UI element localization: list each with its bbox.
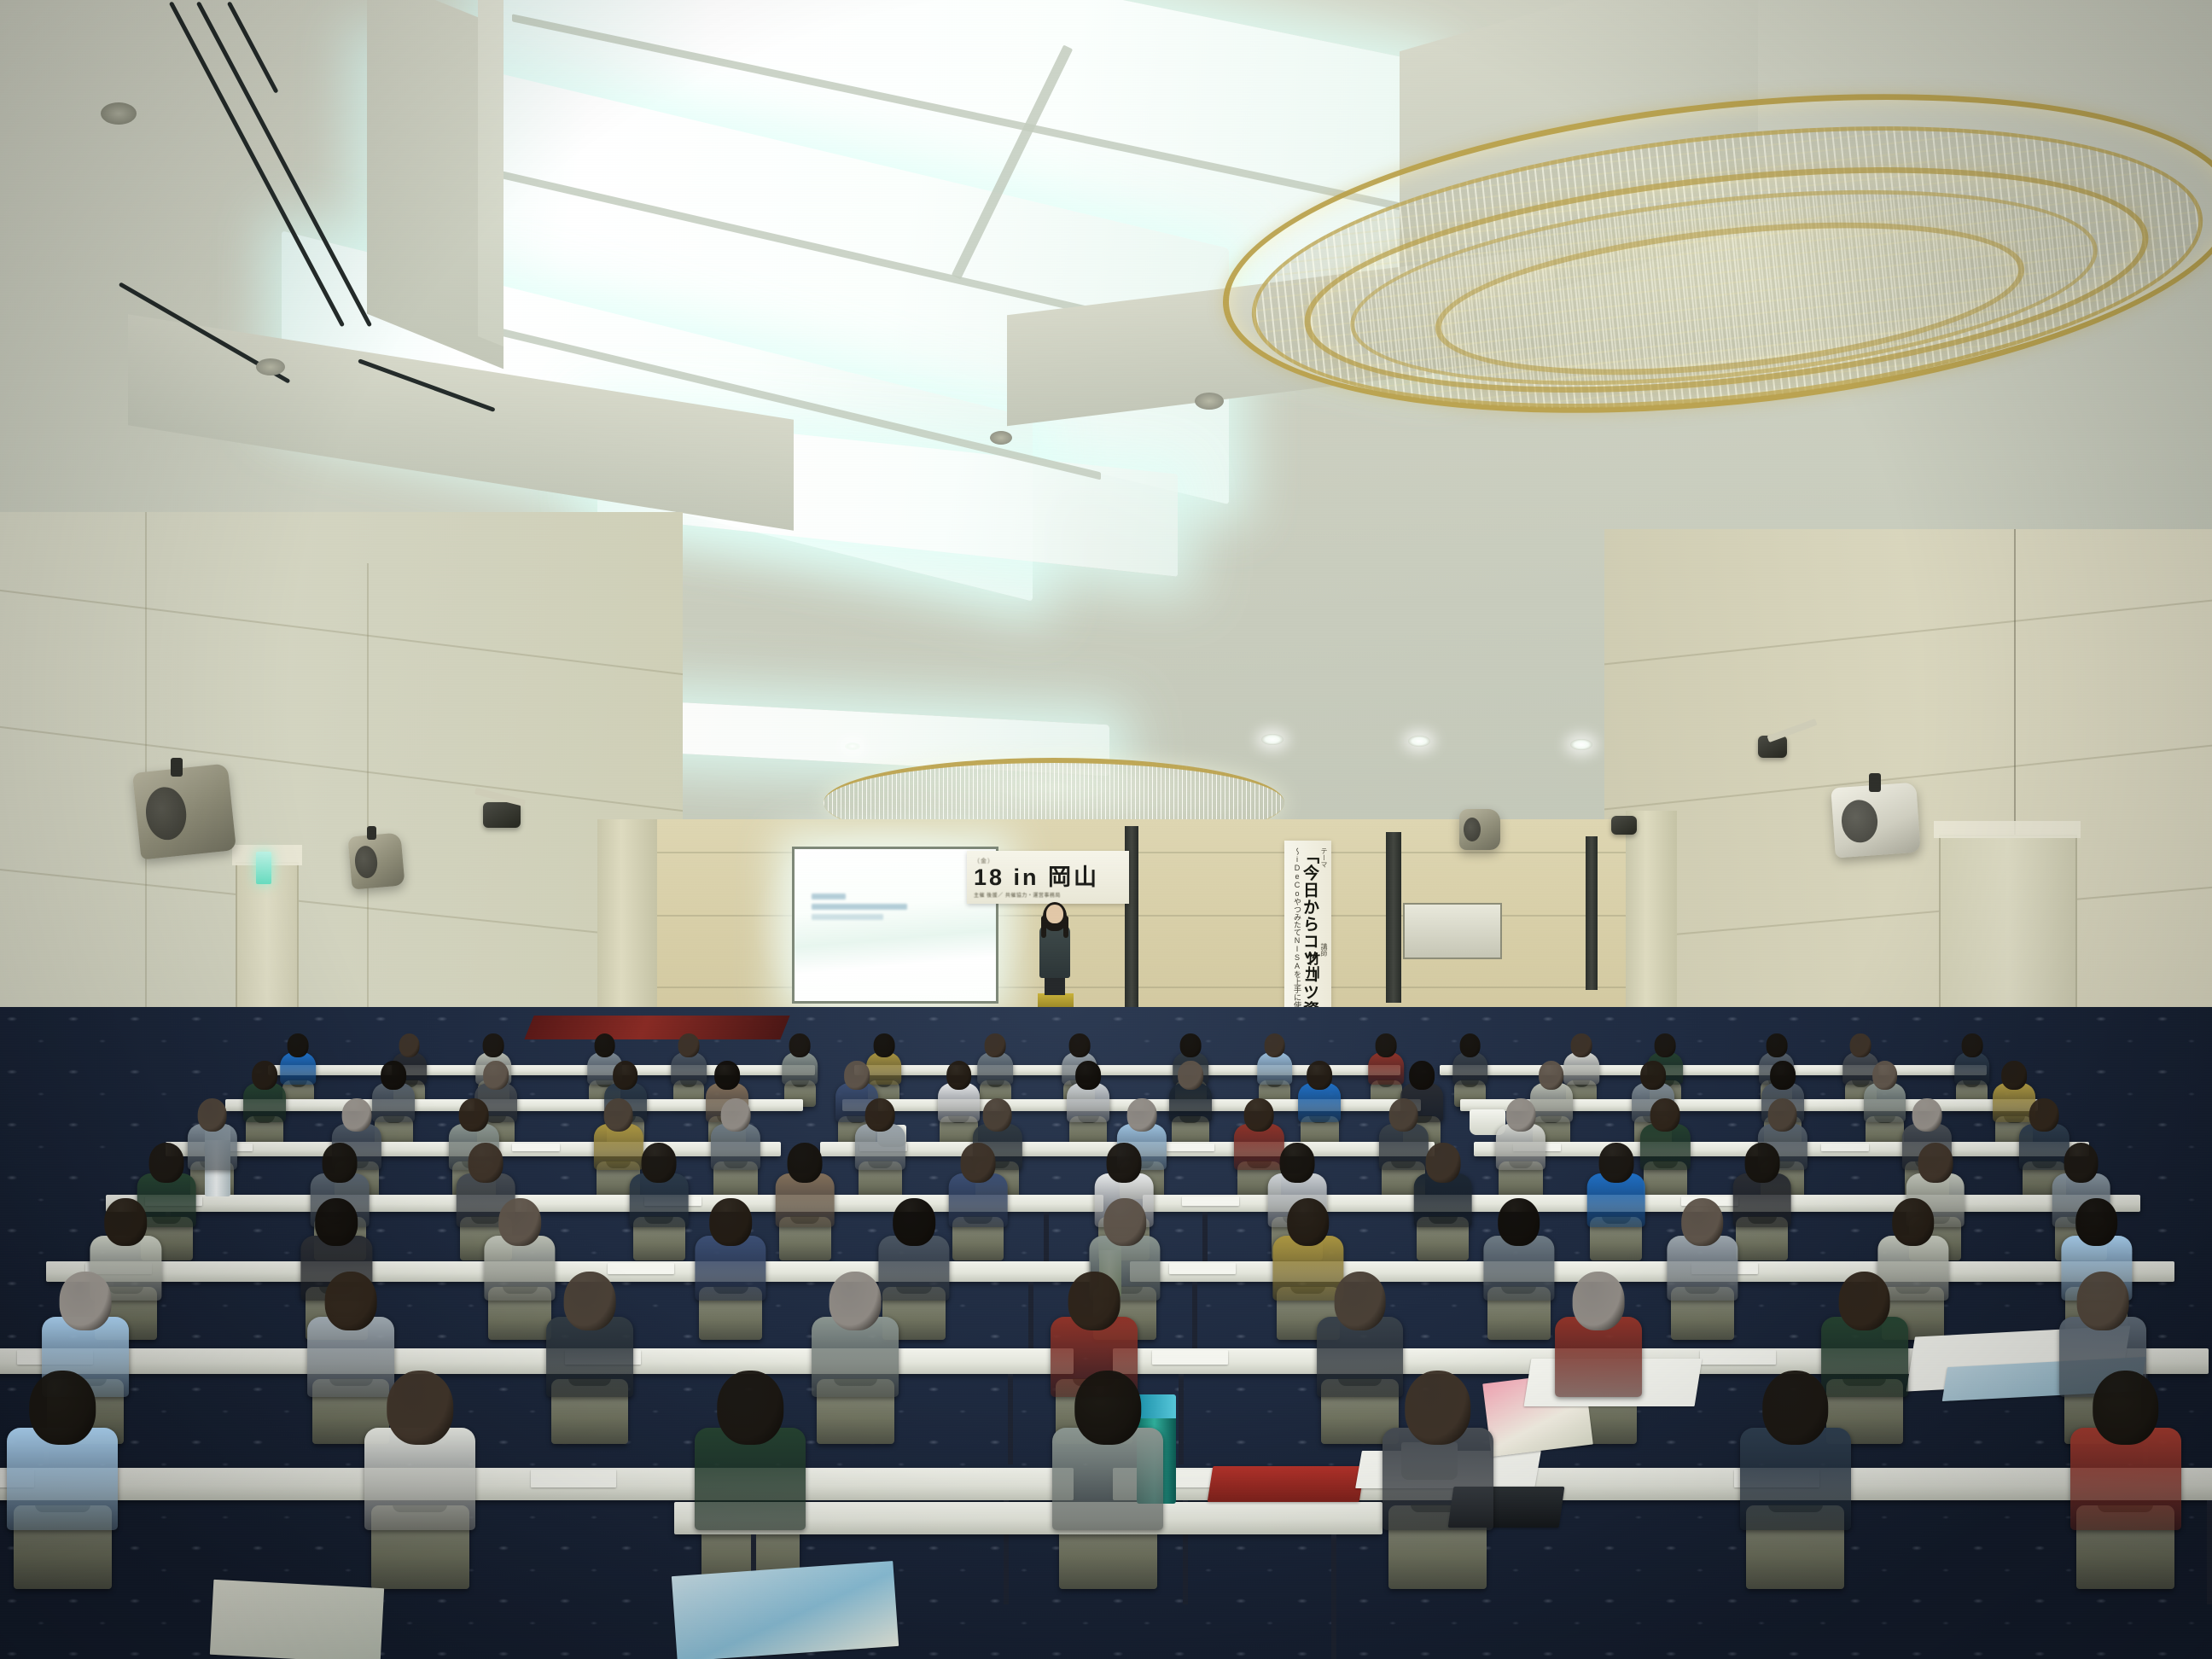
- audience-member: [945, 1143, 1011, 1227]
- aisle-red-runner: [524, 1016, 789, 1039]
- stage-banner-horizontal: （金） 18 in 岡山 主催 後援／ 共催協力・運営事務局: [967, 851, 1129, 904]
- table-leg: [1331, 1534, 1336, 1659]
- attendee-head: [2064, 1143, 2098, 1182]
- attendee-head: [603, 1098, 633, 1132]
- table-leg: [1008, 1374, 1013, 1464]
- audience-member: [771, 1143, 838, 1227]
- ceiling-beam-edge: [478, 0, 504, 346]
- attendee-head: [197, 1098, 227, 1132]
- speaker-cone-icon: [1464, 818, 1481, 842]
- attendee-grey-hoodie: [806, 1272, 905, 1397]
- speaker-cone-icon: [143, 785, 189, 841]
- attendee-head: [961, 1143, 996, 1182]
- attendee-head: [1681, 1198, 1724, 1246]
- wall-seam: [1604, 887, 2212, 941]
- banner-lecturer-name: 竹川: [1301, 952, 1321, 979]
- attendee-head: [1506, 1098, 1536, 1132]
- attendee-head: [1127, 1098, 1157, 1132]
- attendee-head: [325, 1272, 377, 1330]
- attendee-head: [717, 1371, 783, 1446]
- attendee-head: [642, 1143, 677, 1182]
- attendee-head: [498, 1198, 541, 1246]
- ceiling-vent: [990, 431, 1012, 445]
- table-row: [0, 1348, 1074, 1374]
- attendee-head: [1498, 1198, 1540, 1246]
- attendee-head: [1264, 1033, 1285, 1057]
- audience-member: [1493, 1098, 1549, 1170]
- attendee-head: [1872, 1061, 1898, 1090]
- attendee-head: [1334, 1272, 1386, 1330]
- handout-papers: [512, 1144, 560, 1151]
- attendee-head: [469, 1143, 504, 1182]
- attendee-head: [1287, 1198, 1330, 1246]
- attendee-head: [613, 1061, 638, 1090]
- attendee-head: [1573, 1272, 1625, 1330]
- attendee-head: [1762, 1371, 1829, 1446]
- attendee-head: [2001, 1061, 2027, 1090]
- attendee-head: [865, 1098, 895, 1132]
- attendee-head: [1425, 1143, 1460, 1182]
- attendee-head: [714, 1061, 740, 1090]
- attendee-head: [1571, 1033, 1592, 1057]
- stage-column-far-right: [1586, 836, 1598, 990]
- seminar-hall-photo: （金） 18 in 岡山 主催 後援／ 共催協力・運営事務局 テーマ 「今日から…: [0, 0, 2212, 1659]
- audience-member: [1295, 1061, 1344, 1122]
- notebook-red: [1208, 1466, 1365, 1502]
- speaker-mount: [1869, 773, 1881, 792]
- audience-member: [1375, 1371, 1501, 1531]
- attendee-head: [1075, 1061, 1101, 1090]
- table-leg: [1179, 1374, 1184, 1464]
- attendee-head: [788, 1143, 823, 1182]
- attendee-head: [252, 1061, 277, 1090]
- presenter-head: [1046, 905, 1063, 923]
- attendee-head: [2093, 1371, 2159, 1446]
- stage-column-right: [1386, 832, 1401, 1003]
- ceiling-vent: [1195, 393, 1224, 410]
- attendee-head: [1388, 1098, 1418, 1132]
- handout-papers: [1821, 1144, 1869, 1151]
- attendee-head: [381, 1061, 407, 1090]
- attendee-head: [873, 1033, 894, 1057]
- attendee-head: [1307, 1061, 1333, 1090]
- wall-seam: [1604, 600, 2212, 666]
- attendee-head: [1838, 1272, 1890, 1330]
- wall-speaker-center-right: [1459, 809, 1500, 850]
- attendee-head: [1961, 1033, 1982, 1057]
- attendee-head: [342, 1098, 372, 1132]
- audience-member: [1450, 1033, 1490, 1085]
- handout-papers: [1700, 1350, 1776, 1365]
- attendee-head: [1376, 1033, 1397, 1057]
- attendee-head: [387, 1371, 454, 1446]
- attendee-head: [985, 1033, 1006, 1057]
- attendee-head: [1770, 1061, 1796, 1090]
- exit-sign-icon: [256, 852, 271, 884]
- attendee-head: [893, 1198, 935, 1246]
- attendee-head: [316, 1198, 358, 1246]
- presenter: [1034, 905, 1075, 1000]
- table-leg: [2207, 1500, 2212, 1604]
- audience-member: [780, 1033, 820, 1085]
- attendee-head: [844, 1061, 870, 1090]
- speaker-cone-icon: [1840, 799, 1878, 843]
- stage-banner-vertical: テーマ 「今日からコツコツ資産形成をはじめよう」 〜iDeCoやつみたてNISA…: [1284, 841, 1331, 1022]
- audience-member: [626, 1143, 692, 1227]
- downlight: [1408, 736, 1430, 747]
- attendee-head: [982, 1098, 1012, 1132]
- ceiling-vent: [256, 358, 285, 375]
- attendee-head: [789, 1033, 811, 1057]
- attendee-head: [1640, 1061, 1666, 1090]
- audience-member: [540, 1272, 639, 1397]
- audience-member: [852, 1098, 908, 1170]
- attendee-head: [1107, 1143, 1142, 1182]
- attendee-head: [1103, 1198, 1146, 1246]
- spotlight-left: [483, 802, 521, 828]
- downlight: [845, 742, 860, 750]
- audience-member: [1410, 1143, 1476, 1227]
- wall-seam: [0, 869, 683, 942]
- attendee-head: [323, 1143, 358, 1182]
- audience-member: [1662, 1198, 1743, 1301]
- wall-speaker-right: [1831, 783, 1920, 859]
- door-header-right: [1934, 821, 2081, 838]
- attendee-head: [1180, 1033, 1202, 1057]
- handout-papers: [1167, 1144, 1214, 1151]
- audience-member: [1583, 1143, 1650, 1227]
- attendee-head: [1655, 1033, 1676, 1057]
- ceiling-conduit: [227, 1, 279, 93]
- attendee-red-top: [2063, 1371, 2189, 1531]
- attendee-head: [288, 1033, 309, 1057]
- attendee-head: [564, 1272, 616, 1330]
- attendee-head: [678, 1033, 700, 1057]
- audience-member: [687, 1371, 813, 1531]
- attendee-head: [721, 1098, 751, 1132]
- attendee-head: [1178, 1061, 1203, 1090]
- audience-member: [1064, 1061, 1113, 1122]
- ceiling-vent: [101, 102, 137, 125]
- banner-subtitle: 主催 後援／ 共催協力・運営事務局: [974, 891, 1122, 899]
- banner-theme-subtitle: 〜iDeCoやつみたてNISAを上手に使う〜: [1292, 847, 1303, 1022]
- attendee-head: [483, 1061, 509, 1090]
- attendee-head: [1068, 1033, 1090, 1057]
- audience-member: [1952, 1033, 1992, 1085]
- handout-papers: [1152, 1350, 1228, 1365]
- downlight: [1570, 739, 1592, 750]
- audience-member: [1732, 1371, 1859, 1531]
- attendee-head: [1766, 1033, 1787, 1057]
- wall-speaker-left-front: [132, 763, 236, 859]
- table-leg: [1028, 1282, 1033, 1359]
- speaker-mount: [171, 758, 183, 777]
- speaker-mount: [367, 826, 376, 840]
- attendee-ponytail-foreground: [0, 1371, 125, 1531]
- audience-member: [1254, 1033, 1295, 1085]
- attendee-head: [1244, 1098, 1274, 1132]
- attendee-head: [1598, 1143, 1633, 1182]
- wall-seam: [0, 726, 683, 812]
- attendee-head: [1279, 1143, 1314, 1182]
- attendee-head: [483, 1033, 504, 1057]
- attendee-head: [1918, 1143, 1953, 1182]
- handout-papers: [1169, 1263, 1236, 1274]
- attendee-head: [829, 1272, 882, 1330]
- attendee-head: [30, 1371, 96, 1446]
- attendee-head: [594, 1033, 615, 1057]
- wall-speaker-left-rear: [347, 832, 405, 889]
- attendee-head: [2075, 1198, 2118, 1246]
- attendee-head: [105, 1198, 148, 1246]
- handout-papers: [1182, 1196, 1239, 1206]
- attendee-head: [459, 1098, 489, 1132]
- attendee-head: [1459, 1033, 1481, 1057]
- table-leg: [1192, 1282, 1197, 1359]
- attendee-head: [1650, 1098, 1680, 1132]
- attendee-head: [1892, 1198, 1935, 1246]
- attendee-head: [946, 1061, 972, 1090]
- attendee-head: [1539, 1061, 1564, 1090]
- attendee-head: [1912, 1098, 1942, 1132]
- banner-superscript: （金）: [974, 857, 1122, 865]
- audience-member: [1166, 1061, 1214, 1122]
- handout-papers: [531, 1470, 616, 1487]
- presenter-legs: [1045, 976, 1065, 995]
- speaker-cone-icon: [354, 845, 379, 878]
- attendee-head: [1850, 1033, 1871, 1057]
- banner-main-text: 18 in 岡山: [974, 865, 1122, 889]
- brochure-blue: [672, 1561, 899, 1659]
- attendee-head: [2077, 1272, 2129, 1330]
- attendee-head: [399, 1033, 420, 1057]
- attendee-red-top: [1549, 1272, 1648, 1397]
- attendee-head: [1744, 1143, 1779, 1182]
- audience-member: [1479, 1198, 1559, 1301]
- handout-papers: [210, 1580, 384, 1659]
- attendee-head: [1068, 1272, 1121, 1330]
- audience-member: [240, 1061, 288, 1122]
- back-wall-whiteboard: [1403, 903, 1502, 959]
- audience-member: [358, 1371, 484, 1531]
- attendee-head: [2029, 1098, 2059, 1132]
- attendee-head: [1405, 1371, 1471, 1446]
- audience-member: [707, 1098, 764, 1170]
- spotlight-center: [1611, 816, 1637, 835]
- slide-text: [812, 894, 945, 924]
- downlight: [1261, 734, 1284, 745]
- attendee-head: [59, 1272, 111, 1330]
- attendee-head: [709, 1198, 752, 1246]
- attendee-grey-hoodie: [1045, 1371, 1171, 1531]
- audience-member: [690, 1198, 771, 1301]
- attendee-head: [1409, 1061, 1435, 1090]
- wall-seam: [0, 590, 683, 675]
- attendee-head: [1767, 1098, 1797, 1132]
- attendee-head: [1074, 1371, 1141, 1446]
- attendee-head: [149, 1143, 184, 1182]
